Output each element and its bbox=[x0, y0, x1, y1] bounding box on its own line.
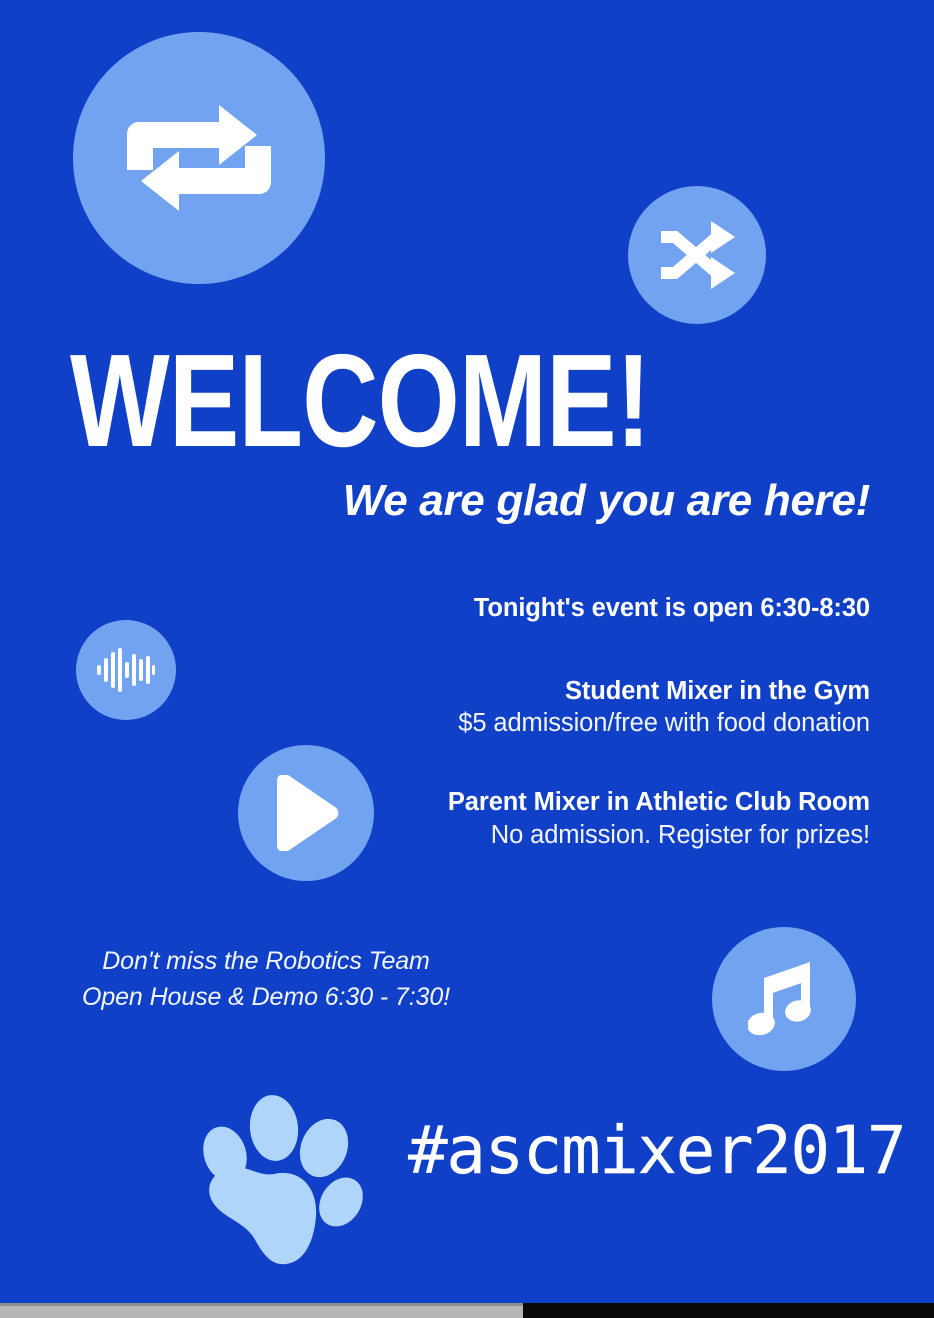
robotics-note-line-1: Don't miss the Robotics Team bbox=[56, 944, 476, 980]
bottom-chrome-strip bbox=[0, 1303, 934, 1318]
robotics-note-line-2: Open House & Demo 6:30 - 7:30! bbox=[56, 980, 476, 1016]
spacer bbox=[230, 740, 870, 786]
shuffle-icon-badge bbox=[628, 186, 766, 324]
poster-canvas: WELCOME! We are glad you are here! Tonig… bbox=[0, 0, 934, 1303]
student-mixer-detail: $5 admission/free with food donation bbox=[230, 707, 870, 740]
parent-mixer-title: Parent Mixer in Athletic Club Room bbox=[230, 786, 870, 819]
waveform-icon-badge bbox=[76, 620, 176, 720]
robotics-note: Don't miss the Robotics Team Open House … bbox=[56, 944, 476, 1015]
bottom-chrome-divider bbox=[0, 1303, 523, 1306]
spacer bbox=[230, 625, 870, 675]
page-title: WELCOME! bbox=[70, 336, 710, 465]
parent-mixer-detail: No admission. Register for prizes! bbox=[230, 819, 870, 852]
page-subtitle: We are glad you are here! bbox=[343, 478, 870, 524]
waveform-icon bbox=[97, 646, 155, 694]
music-note-icon-badge bbox=[712, 927, 856, 1071]
repeat-icon-badge bbox=[73, 32, 325, 284]
event-hashtag: #ascmixer2017 bbox=[408, 1112, 905, 1189]
shuffle-icon bbox=[655, 219, 739, 291]
event-poster: WELCOME! We are glad you are here! Tonig… bbox=[0, 0, 934, 1318]
event-details: Tonight's event is open 6:30-8:30 Studen… bbox=[230, 592, 870, 851]
bottom-chrome-left bbox=[0, 1303, 523, 1318]
paw-print-icon bbox=[196, 1092, 382, 1268]
student-mixer-title: Student Mixer in the Gym bbox=[230, 675, 870, 708]
event-hours: Tonight's event is open 6:30-8:30 bbox=[230, 592, 870, 625]
music-note-icon bbox=[748, 958, 820, 1040]
repeat-icon bbox=[119, 98, 279, 218]
